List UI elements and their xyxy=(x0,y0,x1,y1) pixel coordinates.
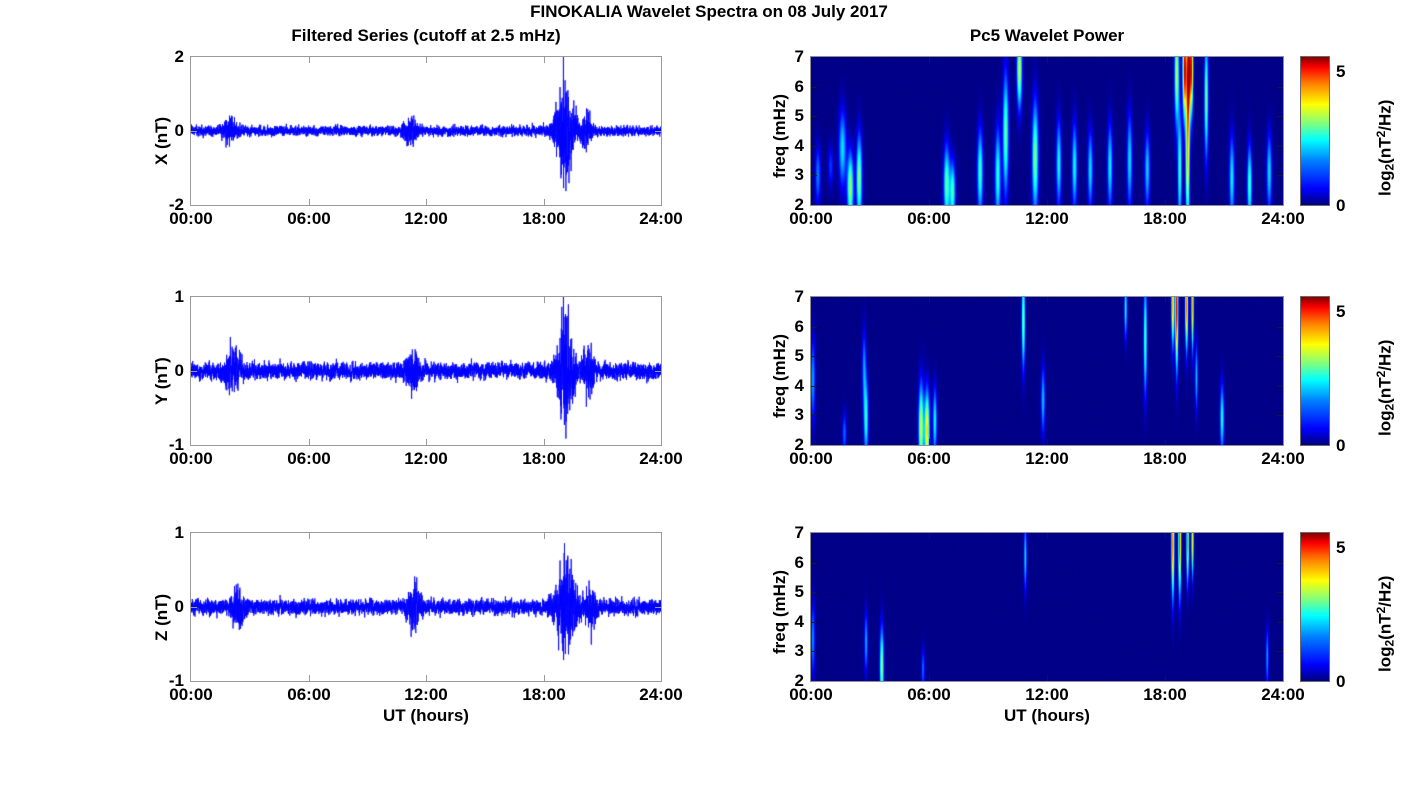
figure-title: FINOKALIA Wavelet Spectra on 08 July 201… xyxy=(0,2,1418,22)
x-tick-mark xyxy=(1165,439,1166,445)
x-tick-label: 24:00 xyxy=(639,209,682,229)
y-tick-mark xyxy=(811,415,817,416)
x-tick-mark xyxy=(544,533,545,539)
x-tick-mark xyxy=(929,57,930,63)
y-tick-label: 0 xyxy=(144,361,184,381)
y-tick-label: 2 xyxy=(764,671,804,691)
x-tick-mark xyxy=(544,199,545,205)
x-tick-label: 12:00 xyxy=(1025,685,1068,705)
x-tick-mark xyxy=(1047,297,1048,303)
x-tick-mark xyxy=(1047,675,1048,681)
x-tick-mark xyxy=(929,533,930,539)
x-tick-label: 18:00 xyxy=(1143,209,1186,229)
y-spectrogram-plot xyxy=(811,297,1283,445)
y-tick-mark xyxy=(1277,415,1283,416)
colorbar-z xyxy=(1300,532,1330,682)
x-tick-label: 18:00 xyxy=(522,449,565,469)
y-tick-mark xyxy=(811,563,817,564)
x-tick-label: 06:00 xyxy=(907,685,950,705)
y-tick-mark xyxy=(811,651,817,652)
colorbar-label-x: log2(nT2/Hz) xyxy=(1374,100,1396,196)
y-tick-label: 0 xyxy=(144,121,184,141)
y-tick-mark xyxy=(1277,146,1283,147)
y-tick-mark xyxy=(811,87,817,88)
y-tick-mark xyxy=(1277,116,1283,117)
y-tick-mark xyxy=(655,371,661,372)
y-tick-label: -2 xyxy=(144,195,184,215)
y-tick-mark xyxy=(191,371,197,372)
x-tick-label: 06:00 xyxy=(287,449,330,469)
y-tick-mark xyxy=(1277,622,1283,623)
x-tick-label: 18:00 xyxy=(522,685,565,705)
x-tick-mark xyxy=(309,297,310,303)
y-tick-label: 3 xyxy=(764,405,804,425)
colorbar-tick-label: 5 xyxy=(1336,62,1345,82)
y-tick-mark xyxy=(811,175,817,176)
x-tick-label: 18:00 xyxy=(1143,449,1186,469)
y-tick-label: 7 xyxy=(764,47,804,67)
colorbar-tick-label: 5 xyxy=(1336,538,1345,558)
colorbar-x xyxy=(1300,56,1330,206)
y-tick-label: 5 xyxy=(764,106,804,126)
y-tick-label: 3 xyxy=(764,165,804,185)
x-tick-label: 12:00 xyxy=(1025,449,1068,469)
x-tick-mark xyxy=(309,57,310,63)
axes-x-filtered-series xyxy=(190,56,662,206)
x-tick-label: 12:00 xyxy=(404,685,447,705)
x-tick-mark xyxy=(1047,199,1048,205)
y-tick-label: 4 xyxy=(764,376,804,396)
y-tick-mark xyxy=(1277,651,1283,652)
y-tick-mark xyxy=(811,116,817,117)
colorbar-tick-label: 0 xyxy=(1336,196,1345,216)
colorbar-label-z: log2(nT2/Hz) xyxy=(1374,576,1396,672)
figure-canvas: FINOKALIA Wavelet Spectra on 08 July 201… xyxy=(0,0,1418,788)
x-tick-mark xyxy=(544,297,545,303)
x-tick-mark xyxy=(309,439,310,445)
left-column-title: Filtered Series (cutoff at 2.5 mHz) xyxy=(190,26,662,46)
x-tick-mark xyxy=(544,675,545,681)
x-tick-mark xyxy=(544,57,545,63)
x-tick-label: 24:00 xyxy=(1261,685,1304,705)
y-tick-label: 5 xyxy=(764,346,804,366)
y-tick-mark xyxy=(1277,327,1283,328)
x-tick-label: 24:00 xyxy=(639,449,682,469)
y-tick-mark xyxy=(191,607,197,608)
x-tick-mark xyxy=(929,199,930,205)
colorbar-tick-label: 5 xyxy=(1336,302,1345,322)
x-tick-mark xyxy=(1047,533,1048,539)
y-tick-label: 7 xyxy=(764,287,804,307)
xaxis-title-left: UT (hours) xyxy=(190,706,662,726)
axes-z-wavelet-power xyxy=(810,532,1284,682)
z-timeseries-plot xyxy=(191,533,661,681)
y-tick-mark xyxy=(811,386,817,387)
y-tick-label: 7 xyxy=(764,523,804,543)
y-tick-mark xyxy=(1277,356,1283,357)
x-tick-label: 12:00 xyxy=(404,449,447,469)
x-tick-mark xyxy=(544,439,545,445)
x-tick-mark xyxy=(1047,57,1048,63)
x-tick-mark xyxy=(426,675,427,681)
x-tick-mark xyxy=(929,439,930,445)
x-tick-mark xyxy=(426,57,427,63)
x-tick-label: 18:00 xyxy=(1143,685,1186,705)
x-tick-mark xyxy=(1165,675,1166,681)
y-tick-label: 2 xyxy=(144,47,184,67)
y-tick-mark xyxy=(1277,592,1283,593)
y-tick-mark xyxy=(811,146,817,147)
y-tick-mark xyxy=(1277,175,1283,176)
y-tick-label: 0 xyxy=(144,597,184,617)
x-tick-mark xyxy=(1165,57,1166,63)
x-tick-mark xyxy=(426,297,427,303)
y-timeseries-plot xyxy=(191,297,661,445)
x-tick-label: 18:00 xyxy=(522,209,565,229)
y-tick-mark xyxy=(1277,563,1283,564)
y-tick-mark xyxy=(811,327,817,328)
y-tick-mark xyxy=(811,592,817,593)
x-tick-mark xyxy=(1165,297,1166,303)
x-tick-mark xyxy=(1165,199,1166,205)
axes-y-filtered-series xyxy=(190,296,662,446)
x-tick-mark xyxy=(426,199,427,205)
colorbar-tick-label: 0 xyxy=(1336,672,1345,692)
x-tick-mark xyxy=(1047,439,1048,445)
y-tick-label: 1 xyxy=(144,287,184,307)
x-tick-label: 12:00 xyxy=(1025,209,1068,229)
y-tick-mark xyxy=(811,622,817,623)
x-tick-label: 06:00 xyxy=(907,449,950,469)
axes-z-filtered-series xyxy=(190,532,662,682)
x-timeseries-plot xyxy=(191,57,661,205)
x-tick-label: 24:00 xyxy=(1261,449,1304,469)
y-tick-label: 4 xyxy=(764,136,804,156)
y-tick-label: 1 xyxy=(144,523,184,543)
y-tick-label: -1 xyxy=(144,671,184,691)
y-tick-label: 6 xyxy=(764,317,804,337)
x-tick-mark xyxy=(309,199,310,205)
right-column-title: Pc5 Wavelet Power xyxy=(810,26,1284,46)
y-tick-mark xyxy=(191,131,197,132)
y-tick-label: 2 xyxy=(764,435,804,455)
x-tick-label: 06:00 xyxy=(907,209,950,229)
x-tick-mark xyxy=(426,533,427,539)
axes-x-wavelet-power xyxy=(810,56,1284,206)
colorbar-tick-label: 0 xyxy=(1336,436,1345,456)
colorbar-label-y: log2(nT2/Hz) xyxy=(1374,340,1396,436)
x-tick-label: 12:00 xyxy=(404,209,447,229)
x-tick-mark xyxy=(929,675,930,681)
x-tick-label: 06:00 xyxy=(287,685,330,705)
y-tick-label: 6 xyxy=(764,553,804,573)
x-tick-mark xyxy=(1165,533,1166,539)
y-tick-mark xyxy=(1277,87,1283,88)
y-tick-mark xyxy=(655,607,661,608)
y-tick-label: 2 xyxy=(764,195,804,215)
x-tick-mark xyxy=(426,439,427,445)
x-spectrogram-plot xyxy=(811,57,1283,205)
x-tick-mark xyxy=(309,533,310,539)
z-spectrogram-plot xyxy=(811,533,1283,681)
y-tick-mark xyxy=(811,356,817,357)
x-tick-label: 06:00 xyxy=(287,209,330,229)
y-tick-label: 4 xyxy=(764,612,804,632)
x-tick-mark xyxy=(309,675,310,681)
axes-y-wavelet-power xyxy=(810,296,1284,446)
y-tick-label: 5 xyxy=(764,582,804,602)
y-tick-label: 3 xyxy=(764,641,804,661)
colorbar-y xyxy=(1300,296,1330,446)
y-tick-label: 6 xyxy=(764,77,804,97)
x-tick-label: 24:00 xyxy=(639,685,682,705)
y-tick-mark xyxy=(655,131,661,132)
xaxis-title-right: UT (hours) xyxy=(810,706,1284,726)
y-tick-mark xyxy=(1277,386,1283,387)
x-tick-mark xyxy=(929,297,930,303)
y-tick-label: -1 xyxy=(144,435,184,455)
x-tick-label: 24:00 xyxy=(1261,209,1304,229)
